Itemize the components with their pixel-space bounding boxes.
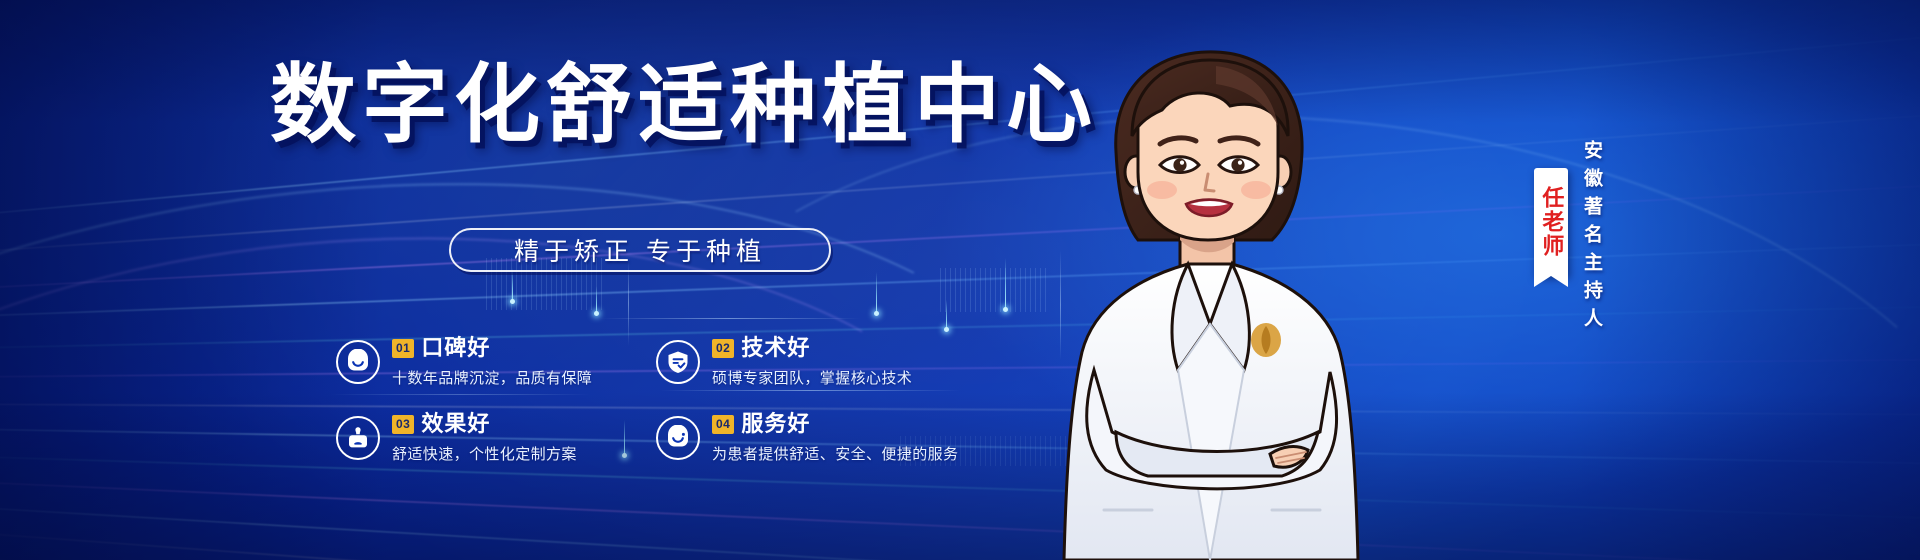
promotional-banner: 数字化舒适种植中心 精于矫正 专于种植 01 口碑好 十数年品牌沉淀，品 — [0, 0, 1920, 560]
feature-description: 为患者提供舒适、安全、便捷的服务 — [712, 443, 958, 464]
feature-title: 效果好 — [421, 413, 490, 435]
feature-description: 舒适快速，个性化定制方案 — [392, 443, 577, 464]
feature-title: 服务好 — [741, 413, 810, 435]
feature-item-01: 01 口碑好 十数年品牌沉淀，品质有保障 — [336, 336, 656, 388]
subtitle-text: 精于矫正 专于种植 — [514, 232, 766, 268]
feature-number-badge: 03 — [392, 415, 414, 434]
feature-number-badge: 02 — [712, 339, 734, 358]
feature-number-badge: 01 — [392, 339, 414, 358]
smile-face-icon — [336, 340, 380, 384]
feature-item-02: 02 技术好 硕博专家团队，掌握核心技术 — [656, 336, 976, 388]
feature-description: 十数年品牌沉淀，品质有保障 — [392, 367, 592, 388]
feature-item-03: 03 效果好 舒适快速，个性化定制方案 — [336, 412, 656, 464]
feature-item-04: 04 服务好 为患者提供舒适、安全、便捷的服务 — [656, 412, 976, 464]
feature-list: 01 口碑好 十数年品牌沉淀，品质有保障 — [336, 336, 976, 464]
host-caption: 安徽著名主持人 — [1582, 140, 1601, 336]
smile-face-icon — [656, 416, 700, 460]
feature-title: 技术好 — [741, 337, 810, 359]
feature-number-badge: 04 — [712, 415, 734, 434]
page-title: 数字化舒适种植中心 — [270, 62, 1010, 148]
feature-row: 01 口碑好 十数年品牌沉淀，品质有保障 — [336, 336, 976, 388]
host-illustration — [1020, 40, 1440, 560]
feature-row: 03 效果好 舒适快速，个性化定制方案 04 — [336, 412, 976, 464]
thumbs-up-icon — [336, 416, 380, 460]
feature-title: 口碑好 — [421, 337, 490, 359]
subtitle-pill: 精于矫正 专于种植 — [449, 228, 831, 272]
feature-description: 硕博专家团队，掌握核心技术 — [712, 367, 912, 388]
host-name-ribbon: 任老师 — [1534, 168, 1568, 276]
host-name: 任老师 — [1539, 186, 1564, 258]
shield-check-icon — [656, 340, 700, 384]
